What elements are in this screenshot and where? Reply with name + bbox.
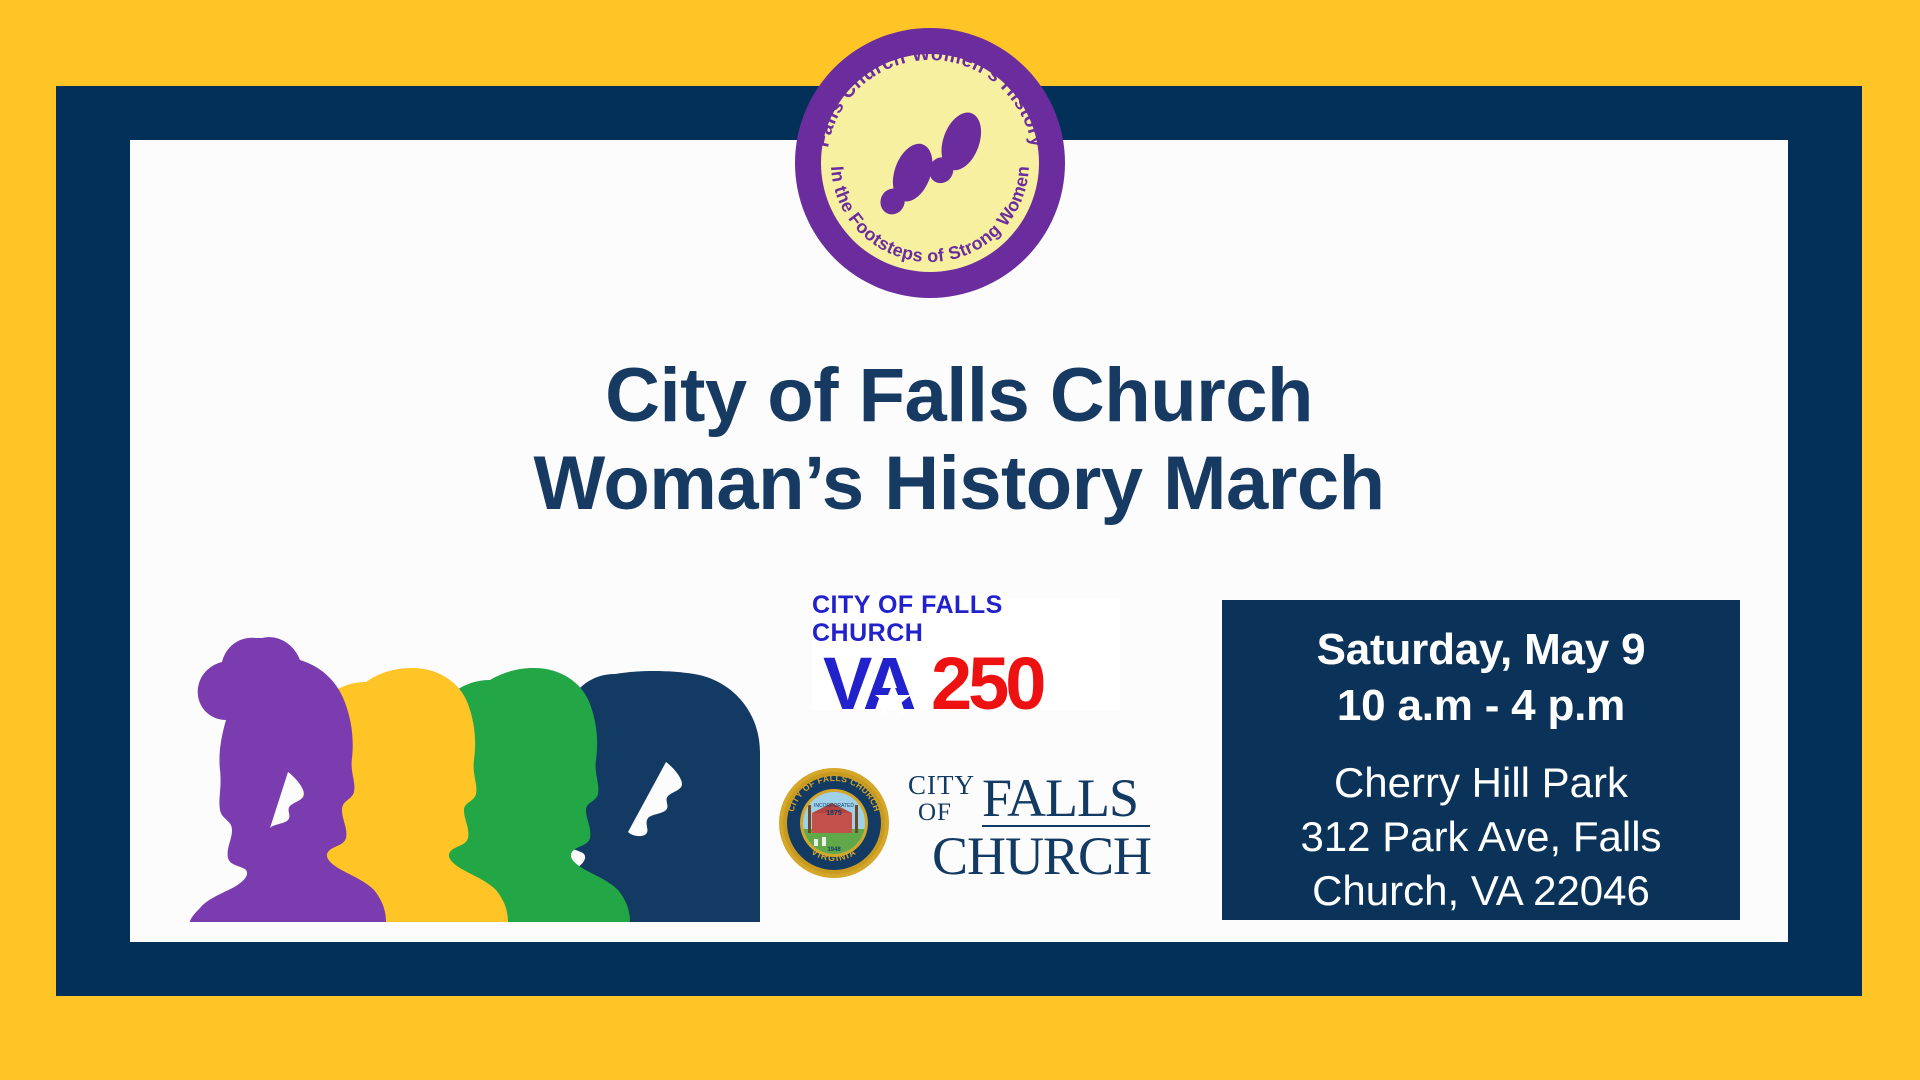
city-wordmark-svg: CITY OF FALLS CHURCH bbox=[904, 764, 1154, 882]
seal-year-top: 1875 bbox=[826, 810, 842, 817]
wordmark-falls-text: FALLS bbox=[982, 768, 1138, 828]
wordmark-of-text: OF bbox=[918, 799, 952, 826]
event-address-line-2: Church, VA 22046 bbox=[1222, 864, 1740, 918]
city-of-falls-church-logo: INCORPORATED 1875 1948 CITY OF FALLS CHU… bbox=[778, 758, 1158, 888]
page-title: City of Falls Church Woman’s History Mar… bbox=[130, 352, 1788, 528]
title-line-1: City of Falls Church bbox=[130, 352, 1788, 440]
va250-svg: VA 250 bbox=[821, 647, 1111, 717]
women-silhouettes-graphic bbox=[160, 592, 760, 922]
silhouettes-svg bbox=[160, 592, 760, 922]
city-wordmark: CITY OF FALLS CHURCH bbox=[904, 764, 1154, 882]
va250-logo: CITY OF FALLS CHURCH VA 250 bbox=[812, 598, 1120, 710]
womens-history-badge: Falls Church Women’s History In the Foot… bbox=[795, 28, 1065, 298]
event-date: Saturday, May 9 bbox=[1222, 622, 1740, 678]
city-seal-svg: INCORPORATED 1875 1948 CITY OF FALLS CHU… bbox=[778, 767, 890, 879]
seal-incorporated-label: INCORPORATED bbox=[814, 803, 854, 809]
event-time: 10 a.m - 4 p.m bbox=[1222, 678, 1740, 734]
wordmark-city-text: CITY bbox=[908, 770, 975, 800]
wordmark-church-text: CHURCH bbox=[932, 826, 1151, 882]
event-venue: Cherry Hill Park bbox=[1222, 756, 1740, 810]
title-line-2: Woman’s History March bbox=[130, 440, 1788, 528]
city-seal-icon: INCORPORATED 1875 1948 CITY OF FALLS CHU… bbox=[778, 767, 890, 879]
va250-number-text: 250 bbox=[931, 647, 1044, 717]
event-details-box: Saturday, May 9 10 a.m - 4 p.m Cherry Hi… bbox=[1222, 600, 1740, 920]
event-address-line-1: 312 Park Ave, Falls bbox=[1222, 810, 1740, 864]
footprints-icon bbox=[795, 28, 1065, 298]
va250-top-label: CITY OF FALLS CHURCH bbox=[812, 591, 1120, 647]
va250-main-lockup: VA 250 bbox=[821, 647, 1111, 717]
seal-year-bottom: 1948 bbox=[827, 847, 841, 853]
event-flyer: Falls Church Women’s History In the Foot… bbox=[0, 0, 1920, 1080]
